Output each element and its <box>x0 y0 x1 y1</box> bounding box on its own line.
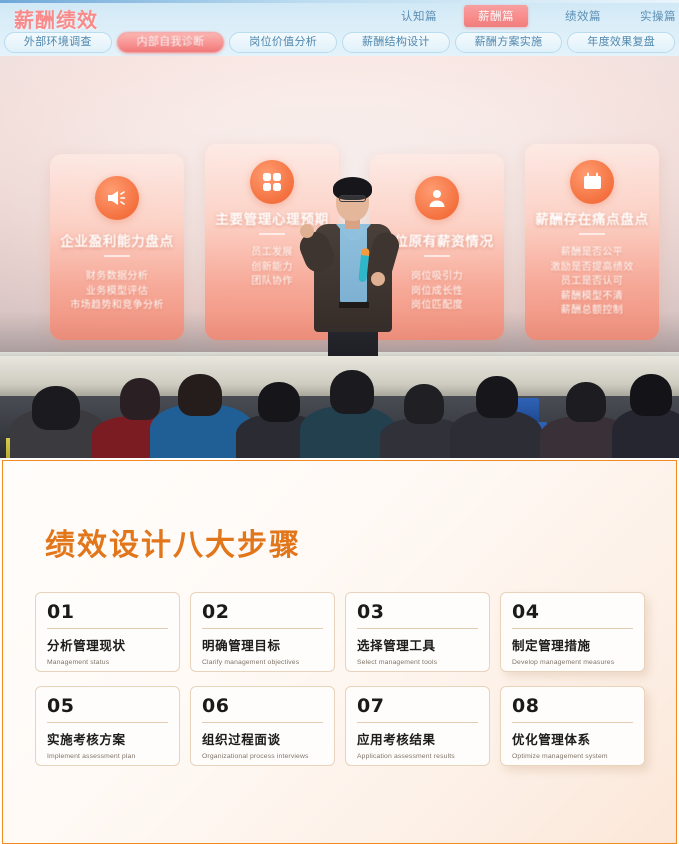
top-tab-3[interactable]: 实操篇 <box>640 8 676 24</box>
panel-title: 绩效设计八大步骤 <box>45 520 301 564</box>
step-number: 06 <box>202 696 323 716</box>
step-title-cn: 应用考核结果 <box>357 729 478 748</box>
divider <box>512 628 633 629</box>
divider <box>104 255 130 257</box>
step-title-en: Select management tools <box>357 659 478 666</box>
step-title-cn: 组织过程面谈 <box>202 729 323 748</box>
top-tab-0[interactable]: 认知篇 <box>401 8 437 24</box>
steps-grid: 01 分析管理现状 Management status 02 明确管理目标 Cl… <box>35 592 645 766</box>
divider <box>259 233 285 235</box>
step-card[interactable]: 02 明确管理目标 Clarify management objectives <box>190 592 335 672</box>
step-number: 03 <box>357 602 478 622</box>
step-number: 08 <box>512 696 633 716</box>
audience-area <box>0 356 679 458</box>
sub-nav: 外部环境调查 内部自我诊断 岗位价值分析 薪酬结构设计 薪酬方案实施 年度效果复… <box>0 29 679 56</box>
divider <box>357 722 478 723</box>
top-tab-2[interactable]: 绩效篇 <box>565 8 601 24</box>
step-card[interactable]: 08 优化管理体系 Optimize management system <box>500 686 645 766</box>
step-title-cn: 优化管理体系 <box>512 729 633 748</box>
speaker-figure <box>300 174 405 374</box>
slide-card: 薪酬存在痛点盘点 薪酬是否公平 激励是否提高绩效 员工是否认可 薪酬模型不清 薪… <box>525 144 659 340</box>
video-player[interactable]: 企业盈利能力盘点 财务数据分析 业务模型评估 市场趋势和竞争分析 主要管理心理预… <box>0 56 679 458</box>
slide-card-title: 企业盈利能力盘点 <box>50 230 184 250</box>
step-card[interactable]: 05 实施考核方案 Implement assessment plan <box>35 686 180 766</box>
step-title-cn: 明确管理目标 <box>202 635 323 654</box>
top-tab-1[interactable]: 薪酬篇 <box>464 5 528 27</box>
step-title-en: Develop management measures <box>512 659 633 666</box>
step-card[interactable]: 03 选择管理工具 Select management tools <box>345 592 490 672</box>
divider <box>202 722 323 723</box>
step-title-en: Clarify management objectives <box>202 659 323 666</box>
sub-tab-2[interactable]: 岗位价值分析 <box>229 32 337 53</box>
step-title-en: Implement assessment plan <box>47 753 168 760</box>
step-number: 05 <box>47 696 168 716</box>
calendar-icon <box>570 160 614 204</box>
sub-tab-4[interactable]: 薪酬方案实施 <box>455 32 563 53</box>
megaphone-icon <box>95 176 139 220</box>
step-number: 04 <box>512 602 633 622</box>
top-nav: 认知篇 薪酬篇 绩效篇 实操篇 <box>385 6 679 28</box>
sub-tab-0[interactable]: 外部环境调查 <box>4 32 112 53</box>
step-title-en: Organizational process interviews <box>202 753 323 760</box>
step-card[interactable]: 01 分析管理现状 Management status <box>35 592 180 672</box>
step-card[interactable]: 07 应用考核结果 Application assessment results <box>345 686 490 766</box>
steps-panel: 绩效设计八大步骤 01 分析管理现状 Management status 02 … <box>2 460 677 844</box>
divider <box>424 255 450 257</box>
step-title-cn: 分析管理现状 <box>47 635 168 654</box>
step-number: 01 <box>47 602 168 622</box>
four-squares-icon <box>250 160 294 204</box>
step-title-cn: 制定管理措施 <box>512 635 633 654</box>
slide-card-title: 薪酬存在痛点盘点 <box>525 208 659 228</box>
step-title-cn: 实施考核方案 <box>47 729 168 748</box>
slide-card-items: 财务数据分析 业务模型评估 市场趋势和竞争分析 <box>50 270 184 314</box>
sub-tab-5[interactable]: 年度效果复盘 <box>567 32 675 53</box>
step-card[interactable]: 06 组织过程面谈 Organizational process intervi… <box>190 686 335 766</box>
sub-tab-3[interactable]: 薪酬结构设计 <box>342 32 450 53</box>
person-icon <box>415 176 459 220</box>
step-title-cn: 选择管理工具 <box>357 635 478 654</box>
slide-card-items: 薪酬是否公平 激励是否提高绩效 员工是否认可 薪酬模型不清 薪酬总额控制 <box>525 246 659 319</box>
sub-tab-1[interactable]: 内部自我诊断 <box>117 32 225 53</box>
divider <box>579 233 605 235</box>
slide-card: 企业盈利能力盘点 财务数据分析 业务模型评估 市场趋势和竞争分析 <box>50 154 184 340</box>
divider <box>512 722 633 723</box>
divider <box>47 628 168 629</box>
divider <box>202 628 323 629</box>
step-title-en: Optimize management system <box>512 753 633 760</box>
step-number: 07 <box>357 696 478 716</box>
divider <box>47 722 168 723</box>
step-card[interactable]: 04 制定管理措施 Develop management measures <box>500 592 645 672</box>
step-title-en: Management status <box>47 659 168 666</box>
app-header: 薪酬绩效 认知篇 薪酬篇 绩效篇 实操篇 外部环境调查 内部自我诊断 岗位价值分… <box>0 0 679 56</box>
divider <box>357 628 478 629</box>
step-number: 02 <box>202 602 323 622</box>
step-title-en: Application assessment results <box>357 753 478 760</box>
